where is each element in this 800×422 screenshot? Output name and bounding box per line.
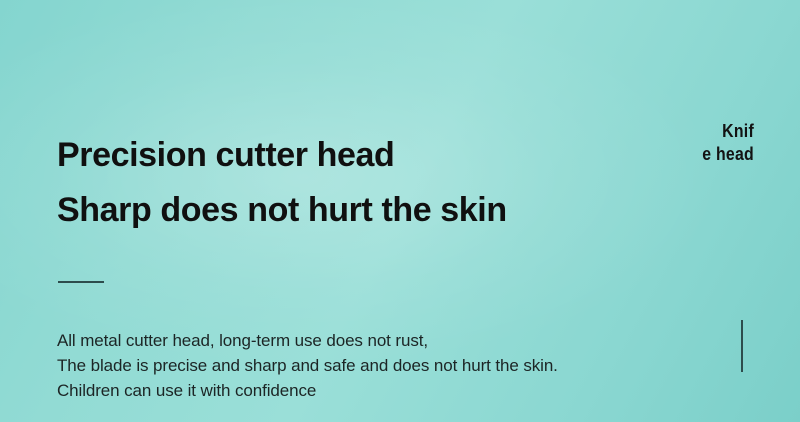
headline-block: Precision cutter head Sharp does not hur… xyxy=(57,134,617,231)
headline-line-2: Sharp does not hurt the skin xyxy=(57,189,617,231)
corner-label-line-1: Knif xyxy=(692,120,754,143)
body-line-1: All metal cutter head, long-term use doe… xyxy=(57,328,697,353)
body-copy: All metal cutter head, long-term use doe… xyxy=(57,328,697,403)
corner-label: Knif e head xyxy=(684,120,754,166)
body-line-3: Children can use it with confidence xyxy=(57,378,697,403)
body-line-2: The blade is precise and sharp and safe … xyxy=(57,353,697,378)
corner-label-line-2: e head xyxy=(692,143,754,166)
vertical-accent-divider xyxy=(741,320,743,372)
product-feature-banner: Precision cutter head Sharp does not hur… xyxy=(0,0,800,422)
headline-line-1: Precision cutter head xyxy=(57,134,617,176)
horizontal-divider xyxy=(58,281,104,283)
